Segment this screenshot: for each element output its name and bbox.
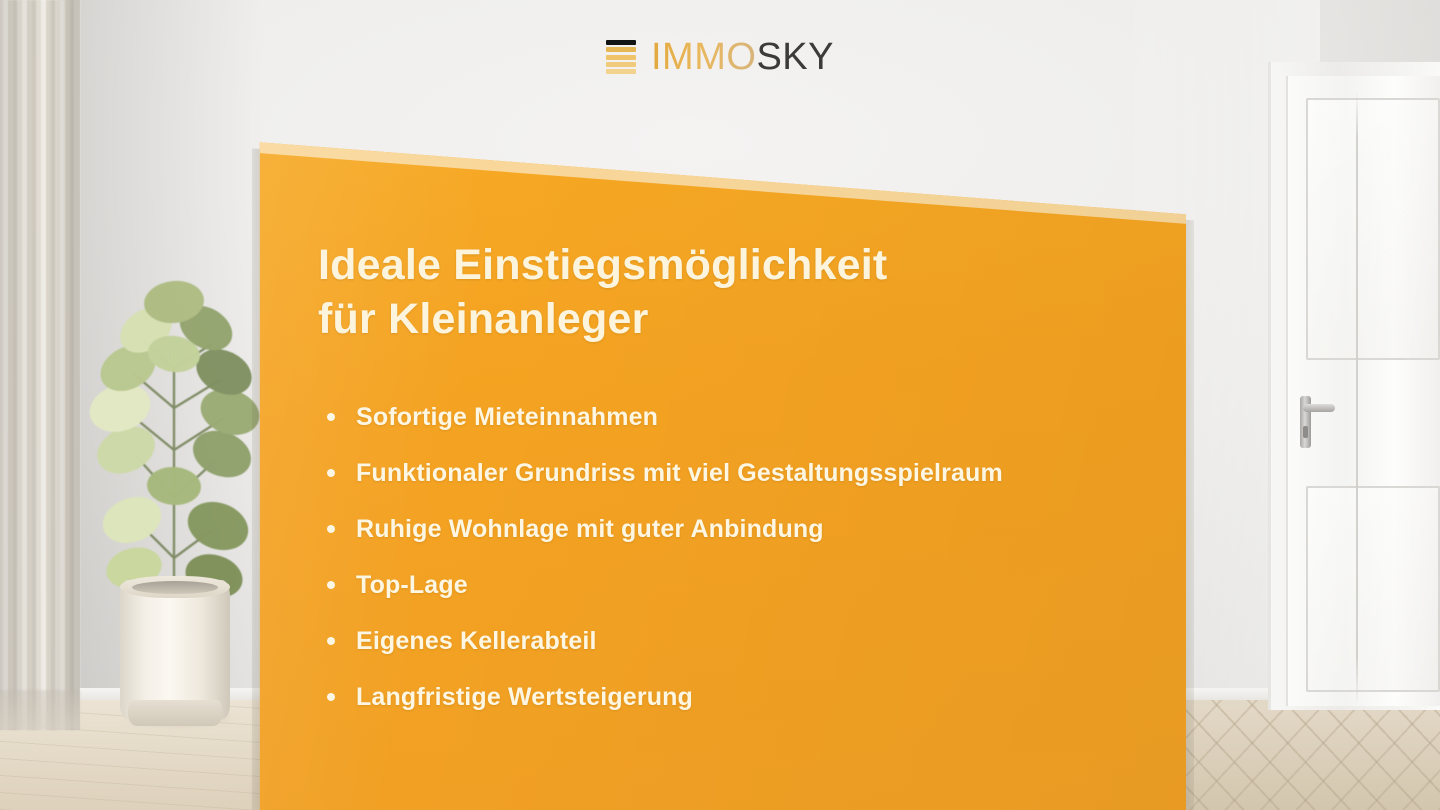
list-item-label: Top-Lage [356,571,468,599]
door-panel-top [1306,98,1440,360]
curtain-hem [0,690,80,730]
bullet-dot-icon [327,637,335,645]
list-item: Top-Lage [318,570,1158,601]
headline-line-2: für Kleinanleger [318,292,1158,346]
bullet-dot-icon [327,525,335,533]
plant-pot [120,580,230,720]
list-item: Langfristige Wertsteigerung [318,682,1158,713]
list-item-label: Ruhige Wohnlage mit guter Anbindung [356,515,824,543]
bullet-dot-icon [327,693,335,701]
list-item: Sofortige Mieteinnahmen [318,402,1158,433]
bullet-dot-icon [327,581,335,589]
door-handle-icon [1303,404,1335,412]
bullet-dot-icon [327,413,335,421]
list-item: Eigenes Kellerabteil [318,626,1158,657]
pot-base [128,700,222,726]
list-item: Ruhige Wohnlage mit guter Anbindung [318,514,1158,545]
pot-soil [132,581,218,594]
list-item-label: Funktionaler Grundriss mit viel Gestaltu… [356,459,1003,487]
panel-content: Ideale Einstiegsmöglichkeit für Kleinanl… [318,238,1158,713]
door-panel-bottom [1306,486,1440,692]
door-keyhole-icon [1303,426,1308,438]
bullet-dot-icon [327,469,335,477]
list-item-label: Eigenes Kellerabteil [356,627,597,655]
slide-canvas: IMMOSKY Ideale Einstiegsmöglichkeit für … [0,0,1440,810]
list-item-label: Sofortige Mieteinnahmen [356,403,658,431]
feature-list: Sofortige Mieteinnahmen Funktionaler Gru… [318,402,1158,713]
list-item: Funktionaler Grundriss mit viel Gestaltu… [318,458,1158,489]
door-seam [1356,90,1358,706]
headline-line-1: Ideale Einstiegsmöglichkeit [318,238,1158,292]
curtain-shading [0,0,80,730]
page-title: Ideale Einstiegsmöglichkeit für Kleinanl… [318,238,1158,346]
list-item-label: Langfristige Wertsteigerung [356,683,693,711]
